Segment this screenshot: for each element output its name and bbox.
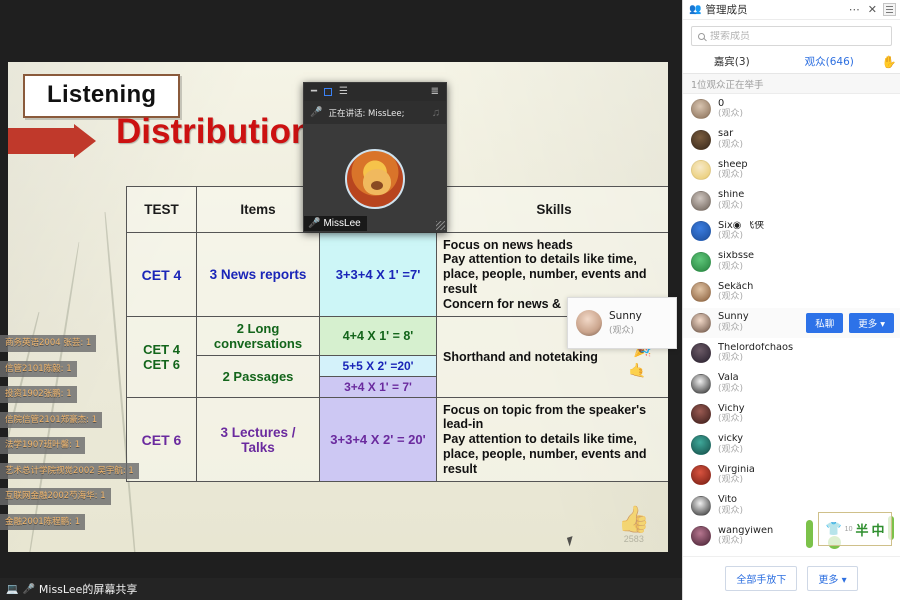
participant-role: (观众) xyxy=(718,415,745,424)
participant-avatar xyxy=(691,465,711,485)
participant-name: wangyiwen xyxy=(718,526,773,536)
cell-time-passages-group: 5+5 X 2' =20' 3+4 X 1' = 7' xyxy=(320,356,437,398)
audio-wave-icon: ♫ xyxy=(432,107,440,119)
participant-row[interactable]: Vichy(观众) xyxy=(683,399,900,430)
participant-meta: Thelordofchaos(观众) xyxy=(718,343,793,364)
participant-role: (观众) xyxy=(718,171,748,180)
participant-meta: Sunny(观众) xyxy=(718,312,749,333)
listening-label: Listening xyxy=(47,81,156,108)
mic-muted-icon: 🎤 xyxy=(310,107,322,118)
app-root: Listening Distribution TEST Items Skills… xyxy=(0,0,900,600)
participant-avatar xyxy=(691,526,711,546)
col-header-test: TEST xyxy=(127,187,197,233)
search-box[interactable] xyxy=(691,26,892,46)
people-icon: 👥 xyxy=(689,4,701,15)
participant-name: Vichy xyxy=(718,404,745,414)
speaking-status-bar: 🎤 正在讲话: MissLee; ♫ xyxy=(304,101,446,125)
search-section xyxy=(683,20,900,50)
participant-role: (观众) xyxy=(718,293,753,302)
participant-row[interactable]: Virginia(观众) xyxy=(683,460,900,491)
video-window-titlebar: ━ ☰ ≣ xyxy=(304,83,446,101)
row-more-button[interactable]: 更多 ▾ xyxy=(849,313,894,333)
participant-avatar xyxy=(691,435,711,455)
resize-handle-icon[interactable] xyxy=(436,221,445,230)
toast-item: 信管2101陈毅: 1 xyxy=(0,361,77,378)
cell-time-news: 3+3+4 X 1' =7' xyxy=(320,233,437,317)
participant-row[interactable]: Sekäch(观众) xyxy=(683,277,900,308)
participant-role: (观众) xyxy=(718,537,773,546)
lower-all-hands-button[interactable]: 全部手放下 xyxy=(725,566,797,591)
cell-items-lectures: 3 Lectures / Talks xyxy=(197,398,320,482)
participant-role: (观众) xyxy=(718,507,743,516)
toast-item: 金融2001陈程鹏: 1 xyxy=(0,514,85,531)
notification-toast-list: 商务英语2004 张芸: 1 信管2101陈毅: 1 投资1902张鹏: 1 信… xyxy=(0,332,128,536)
participant-avatar xyxy=(691,374,711,394)
minimize-icon[interactable]: ━ xyxy=(311,87,317,97)
participant-role: (观众) xyxy=(718,476,755,485)
search-icon xyxy=(698,33,705,40)
participant-meta: sheep(观众) xyxy=(718,160,748,181)
participant-meta: Six◉ 飞侠(观众) xyxy=(718,221,764,242)
participant-name: Six◉ 飞侠 xyxy=(718,221,764,231)
participant-row[interactable]: vicky(观众) xyxy=(683,430,900,461)
hover-card-name: Sunny xyxy=(609,310,642,322)
toast-item: 法学1907班叶馨: 1 xyxy=(0,437,85,454)
panel-footer: 全部手放下 更多 ▾ xyxy=(683,556,900,600)
toast-item: 投资1902张鹏: 1 xyxy=(0,386,77,403)
participant-role: (观众) xyxy=(718,202,744,211)
participant-name: Vito xyxy=(718,495,743,505)
participant-role: (观众) xyxy=(718,446,743,455)
footer-more-button[interactable]: 更多 ▾ xyxy=(807,566,857,591)
toast-item: 互联网金融2002芍海华: 1 xyxy=(0,488,111,505)
participant-name: shine xyxy=(718,190,744,200)
cell-time-passages-b: 3+4 X 1' = 7' xyxy=(320,377,436,397)
participant-row[interactable]: Six◉ 飞侠(观众) xyxy=(683,216,900,247)
participant-meta: Vichy(观众) xyxy=(718,404,745,425)
participant-row[interactable]: Vito(观众) xyxy=(683,491,900,522)
manage-members-panel: 👥 管理成员 ⋯ ✕ 嘉宾(3) 观众(646) ✋ 1位观众正在举手 0(观众… xyxy=(682,0,900,600)
mic-icon: 🎤 xyxy=(308,218,320,229)
close-icon[interactable]: ✕ xyxy=(866,3,879,16)
screen-share-label: MissLee的屏幕共享 xyxy=(39,581,137,597)
participant-role: (观众) xyxy=(718,385,743,394)
thumbs-up-reaction[interactable]: 👍 2583 xyxy=(618,506,650,544)
red-arrow-shape xyxy=(8,124,96,158)
lion-avatar xyxy=(345,149,405,209)
cell-skills-lectures: Focus on topic from the speaker's lead-i… xyxy=(437,398,669,482)
participant-meta: Virginia(观众) xyxy=(718,465,755,486)
participant-avatar xyxy=(691,282,711,302)
panel-menu-icon[interactable] xyxy=(883,3,896,16)
thumbs-up-icon: 👍 xyxy=(618,506,650,532)
participant-avatar xyxy=(691,130,711,150)
participant-name: sar xyxy=(718,129,743,139)
toast-item: 信院信管2101郑豪杰: 1 xyxy=(0,412,102,429)
participant-avatar xyxy=(691,99,711,119)
tab-audience[interactable]: 观众(646) xyxy=(781,54,879,69)
col-header-skills: Skills xyxy=(437,187,669,233)
participant-meta: 0(观众) xyxy=(718,99,743,120)
hover-card-meta: Sunny (观众) xyxy=(609,310,642,336)
participant-name: 0 xyxy=(718,99,743,109)
toast-item: 艺术总计学院视觉2002 吴宇航: 1 xyxy=(0,463,139,480)
participant-meta: sixbsse(观众) xyxy=(718,251,754,272)
participant-name: Thelordofchaos xyxy=(718,343,793,353)
reaction-count: 2583 xyxy=(618,534,650,544)
participant-role: (观众) xyxy=(718,110,743,119)
participant-name: Sekäch xyxy=(718,282,753,292)
list-view-icon[interactable]: ☰ xyxy=(339,87,348,97)
participant-row[interactable]: 0(观众) xyxy=(683,94,900,125)
panel-title: 管理成员 xyxy=(705,2,747,17)
hover-card-role: (观众) xyxy=(609,323,642,336)
participant-row[interactable]: sixbsse(观众) xyxy=(683,247,900,278)
search-input[interactable] xyxy=(710,31,885,42)
participant-hover-card: Sunny (观众) xyxy=(567,297,677,349)
cell-time-conversations: 4+4 X 1' = 8' xyxy=(320,317,437,356)
participant-role: (观众) xyxy=(718,141,743,150)
participant-meta: wangyiwen(观众) xyxy=(718,526,773,547)
col-header-items: Items xyxy=(197,187,320,233)
participant-row[interactable]: sar(观众) xyxy=(683,125,900,156)
participant-avatar xyxy=(691,343,711,363)
participant-avatar xyxy=(691,252,711,272)
participant-name: sheep xyxy=(718,160,748,170)
participant-list[interactable]: 0(观众)sar(观众)sheep(观众)shine(观众)Six◉ 飞侠(观众… xyxy=(683,94,900,556)
participant-row[interactable]: Sunny(观众)私聊更多 ▾ xyxy=(683,308,900,339)
screen-share-status-bar: 💻 🎤 MissLee的屏幕共享 xyxy=(0,578,682,600)
screen-share-area: Listening Distribution TEST Items Skills… xyxy=(0,0,682,600)
maximize-icon[interactable] xyxy=(324,88,332,96)
mic-icon: 🎤 xyxy=(22,584,34,595)
participant-meta: vicky(观众) xyxy=(718,434,743,455)
participant-role: (观众) xyxy=(718,263,754,272)
participant-avatar xyxy=(691,404,711,424)
participant-name: vicky xyxy=(718,434,743,444)
participant-avatar xyxy=(691,191,711,211)
participant-name: sixbsse xyxy=(718,251,754,261)
mouse-cursor xyxy=(567,535,580,547)
participant-row[interactable]: Vala(观众) xyxy=(683,369,900,400)
participant-meta: shine(观众) xyxy=(718,190,744,211)
participant-avatar xyxy=(691,160,711,180)
floating-video-window[interactable]: ━ ☰ ≣ 🎤 正在讲话: MissLee; ♫ 🎤 MissLee xyxy=(303,82,447,232)
participant-role: (观众) xyxy=(718,354,793,363)
speaking-text: 正在讲话: MissLee; xyxy=(328,107,404,119)
raise-hand-icon[interactable]: ✋ xyxy=(878,55,900,69)
cell-time-passages-a: 5+5 X 2' =20' xyxy=(320,356,436,377)
tab-guests[interactable]: 嘉宾(3) xyxy=(683,54,781,69)
participant-role: (观众) xyxy=(718,324,749,333)
participant-avatar xyxy=(691,496,711,516)
cell-time-lectures: 3+3+4 X 2' = 20' xyxy=(320,398,437,482)
cell-test-cet4: CET 4 xyxy=(127,233,197,317)
panel-tabs: 嘉宾(3) 观众(646) ✋ xyxy=(683,50,900,74)
table-row: CET 6 3 Lectures / Talks 3+3+4 X 2' = 20… xyxy=(127,398,669,482)
toast-item: 商务英语2004 张芸: 1 xyxy=(0,335,96,352)
cell-test-cet46: CET 4 CET 6 xyxy=(127,317,197,398)
private-chat-button[interactable]: 私聊 xyxy=(806,313,843,333)
row-actions: 私聊更多 ▾ xyxy=(806,313,894,333)
participant-row[interactable]: sheep(观众) xyxy=(683,155,900,186)
participant-name: Sunny xyxy=(718,312,749,322)
raise-hand-notice: 1位观众正在举手 xyxy=(683,74,900,94)
participant-name: Vala xyxy=(718,373,743,383)
participant-meta: sar(观众) xyxy=(718,129,743,150)
screen-share-icon: 💻 xyxy=(6,584,18,595)
participant-meta: Vala(观众) xyxy=(718,373,743,394)
video-nametag: 🎤 MissLee xyxy=(304,216,367,231)
party-icon: 🤙 xyxy=(629,362,646,379)
participant-row[interactable]: Thelordofchaos(观众) xyxy=(683,338,900,369)
user-avatar xyxy=(576,310,602,336)
cell-items-news: 3 News reports xyxy=(197,233,320,317)
video-nametag-label: MissLee xyxy=(323,218,360,229)
settings-icon[interactable]: ≣ xyxy=(431,87,439,97)
cell-items-conversations: 2 Long conversations xyxy=(197,317,320,356)
participant-role: (观众) xyxy=(718,232,764,241)
participant-row[interactable]: shine(观众) xyxy=(683,186,900,217)
cell-items-passages: 2 Passages xyxy=(197,356,320,398)
participant-row[interactable]: wangyiwen(观众) xyxy=(683,521,900,552)
participant-name: Virginia xyxy=(718,465,755,475)
more-dots-icon[interactable]: ⋯ xyxy=(847,3,862,16)
participant-avatar xyxy=(691,221,711,241)
participant-meta: Vito(观众) xyxy=(718,495,743,516)
raise-hand-notice-label: 1位观众正在举手 xyxy=(691,77,764,91)
participant-meta: Sekäch(观众) xyxy=(718,282,753,303)
panel-header: 👥 管理成员 ⋯ ✕ xyxy=(683,0,900,20)
participant-avatar xyxy=(691,313,711,333)
slide-title: Distribution xyxy=(116,112,312,152)
